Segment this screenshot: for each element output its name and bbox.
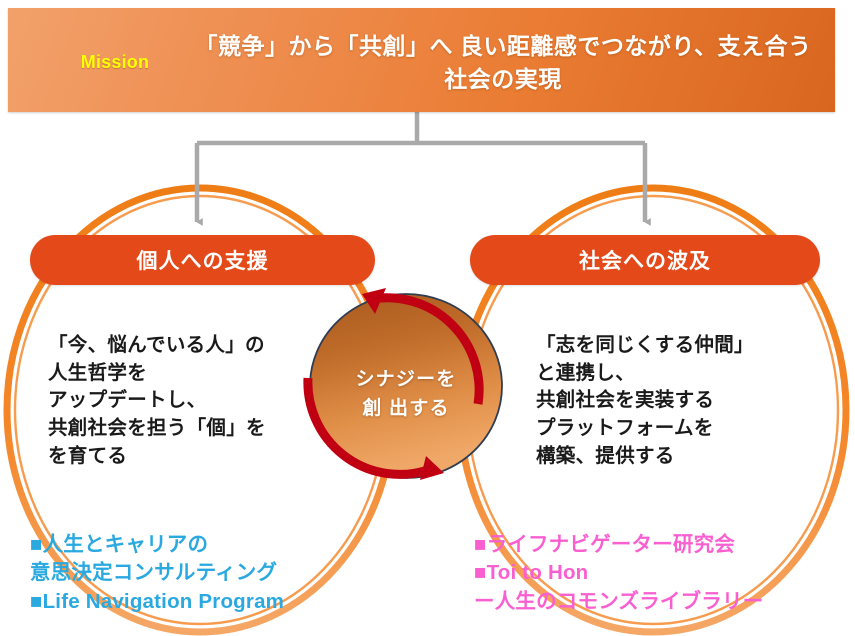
left-lobe-title-pill: 個人への支援 <box>30 235 375 285</box>
right-lobe-title: 社会への波及 <box>579 245 711 275</box>
mission-banner: Mission 「競争」から「共創」へ 良い距離感でつながり、支え合う社会の実現 <box>8 8 835 112</box>
left-lobe-body: 「今、悩んでいる人」の 人生哲学を アップデートし、 共創社会を担う「個」を を… <box>48 332 348 470</box>
left-program-list: ■人生とキャリアの 意思決定コンサルティング ■Life Navigation … <box>30 531 430 616</box>
center-synergy-label: シナジーを 創 出する <box>315 366 497 423</box>
left-lobe-title: 個人への支援 <box>137 245 269 275</box>
mission-headline: 「競争」から「共創」へ 良い距離感でつながり、支え合う社会の実現 <box>183 30 823 97</box>
mission-label: Mission <box>60 52 170 73</box>
right-lobe-body: 「志を同じくする仲間」 と連携し、 共創社会を実装する プラットフォームを 構築… <box>536 332 846 470</box>
right-program-list: ■ライフナビゲーター研究会 ■Toi to Hon ー人生のコモンズライブラリー <box>474 531 855 616</box>
right-lobe-title-pill: 社会への波及 <box>470 235 820 285</box>
